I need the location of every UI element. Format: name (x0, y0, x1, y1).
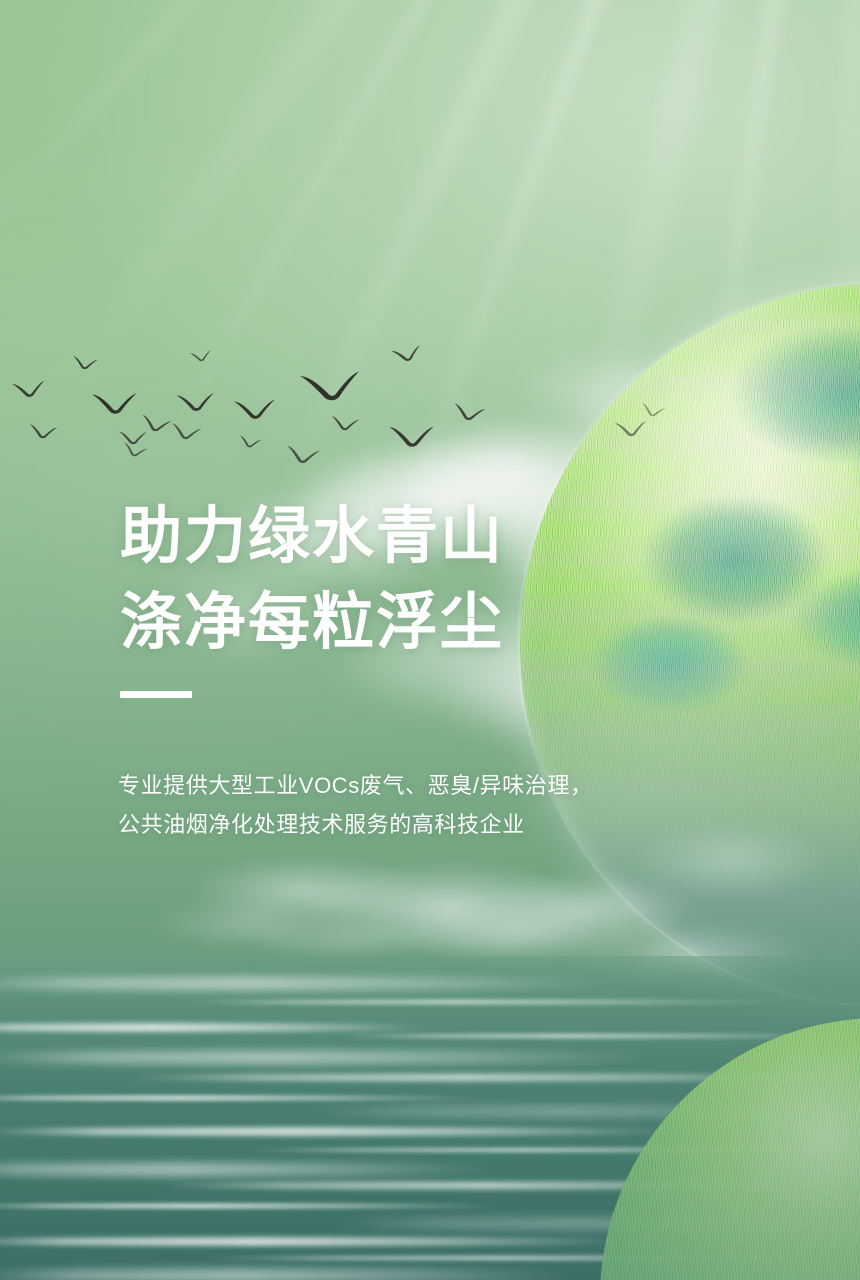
bird-icon-6 (28, 423, 59, 440)
water-ripple-13 (0, 1204, 510, 1208)
bird-icon-5 (175, 390, 217, 414)
page-subtitle: 专业提供大型工业VOCs废气、恶臭/异味治理， 公共油烟净化处理技术服务的高科技… (118, 766, 593, 844)
water-ripple-3 (0, 1024, 440, 1031)
bird-icon-16 (387, 423, 436, 449)
headline-line-2: 涤净每粒浮尘 (120, 580, 504, 666)
bird-icon-19 (613, 418, 649, 438)
earth-globe (520, 284, 860, 1004)
water-ripple-5 (0, 1052, 660, 1063)
page-title: 助力绿水青山 涤净每粒浮尘 (120, 494, 504, 666)
water-ripple-7 (0, 1096, 490, 1100)
subhead-line-1: 专业提供大型工业VOCs废气、恶臭/异味治理， (118, 766, 593, 805)
water-ripple-17 (0, 1270, 580, 1280)
poster-canvas: 助力绿水青山 涤净每粒浮尘 专业提供大型工业VOCs废气、恶臭/异味治理， 公共… (0, 0, 860, 1280)
bird-icon-13 (329, 415, 360, 433)
water-ripple-2 (180, 1000, 800, 1004)
water-ripple-15 (0, 1238, 640, 1245)
water-ripple-1 (0, 978, 620, 989)
water-ripple-11 (0, 1164, 510, 1175)
reflected-globe-water-veil (600, 1018, 860, 1280)
title-divider (120, 691, 192, 698)
reflected-globe (600, 1018, 860, 1280)
bird-icon-3 (91, 380, 140, 425)
subhead-line-2: 公共油烟净化处理技术服务的高科技企业 (118, 805, 593, 844)
bird-icon-18 (283, 444, 323, 466)
bird-icon-2 (71, 355, 98, 372)
water-ripple-9 (0, 1128, 690, 1135)
headline-line-1: 助力绿水青山 (120, 494, 504, 580)
bird-icon-10 (231, 396, 279, 422)
